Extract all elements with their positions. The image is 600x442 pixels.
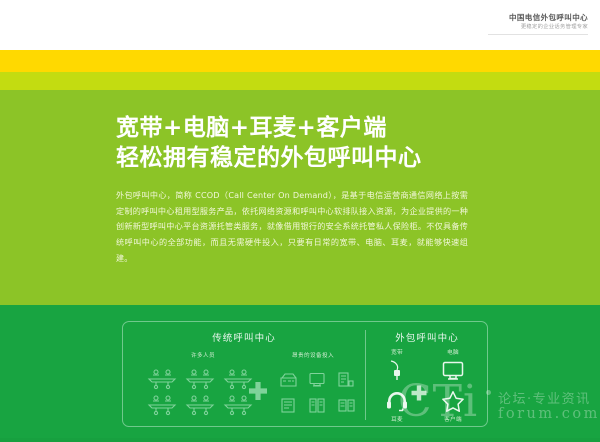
outsourced-item-broadband: 宽带 bbox=[373, 348, 421, 384]
client-label: 客户端 bbox=[429, 415, 477, 423]
broadband-label: 宽带 bbox=[373, 348, 421, 356]
traditional-people-label: 许多人员 bbox=[161, 351, 245, 359]
agent-desk-icon bbox=[183, 392, 217, 418]
band-yellow bbox=[0, 50, 600, 72]
brand-title: 中国电信外包呼叫中心 bbox=[509, 13, 588, 22]
agent-desk-icon bbox=[145, 392, 179, 418]
brand-divider bbox=[488, 34, 588, 35]
server-pair-icon bbox=[333, 392, 359, 418]
diagram-area: 传统呼叫中心 许多人员 昂贵的设备投入 bbox=[0, 305, 600, 438]
equipment-icon-grid bbox=[275, 366, 359, 418]
outsourced-item-client: 客户端 bbox=[429, 388, 477, 423]
outsourced-plus-icon bbox=[410, 384, 428, 402]
pbx-icon bbox=[304, 392, 330, 418]
outsourced-panel-title: 外包呼叫中心 bbox=[366, 330, 488, 344]
traditional-equipment-label: 昂贵的设备投入 bbox=[271, 351, 355, 359]
comparison-diagram: 传统呼叫中心 许多人员 昂贵的设备投入 bbox=[122, 321, 488, 427]
traditional-plus-icon bbox=[247, 380, 269, 402]
hero-block: 宽带+电脑+耳麦+客户端 轻松拥有稳定的外包呼叫中心 外包呼叫中心，简称 CCO… bbox=[116, 114, 476, 267]
headset-label: 耳麦 bbox=[373, 415, 421, 423]
monitor-icon bbox=[429, 358, 477, 384]
traditional-panel-title: 传统呼叫中心 bbox=[123, 330, 365, 344]
brand-subtitle: 更稳定的企业话务管理专家 bbox=[509, 24, 588, 31]
agent-desk-icon bbox=[145, 366, 179, 392]
switchboard-icon bbox=[275, 366, 301, 392]
agent-desk-icon bbox=[183, 366, 217, 392]
bottom-baseline bbox=[0, 438, 600, 442]
hero-headline-line1: 宽带+电脑+耳麦+客户端 bbox=[116, 114, 476, 144]
outsourced-item-computer: 电脑 bbox=[429, 348, 477, 384]
broadband-plug-icon bbox=[373, 358, 421, 384]
star-client-icon bbox=[429, 388, 477, 414]
hero-body-text: 外包呼叫中心，简称 CCOD（Call Center On Demand），是基… bbox=[116, 188, 468, 267]
page-header: 中国电信外包呼叫中心 更稳定的企业话务管理专家 bbox=[0, 0, 600, 50]
hero-headline-line2: 轻松拥有稳定的外包呼叫中心 bbox=[116, 144, 476, 174]
brand-block: 中国电信外包呼叫中心 更稳定的企业话务管理专家 bbox=[509, 13, 588, 31]
server-rack-icon bbox=[275, 392, 301, 418]
agent-icon-grid bbox=[145, 366, 255, 418]
server-icon bbox=[333, 366, 359, 392]
poster-page: 中国电信外包呼叫中心 更稳定的企业话务管理专家 宽带+电脑+耳麦+客户端 轻松拥… bbox=[0, 0, 600, 442]
band-yellow-green bbox=[0, 72, 600, 90]
monitor-icon bbox=[304, 366, 330, 392]
computer-label: 电脑 bbox=[429, 348, 477, 356]
